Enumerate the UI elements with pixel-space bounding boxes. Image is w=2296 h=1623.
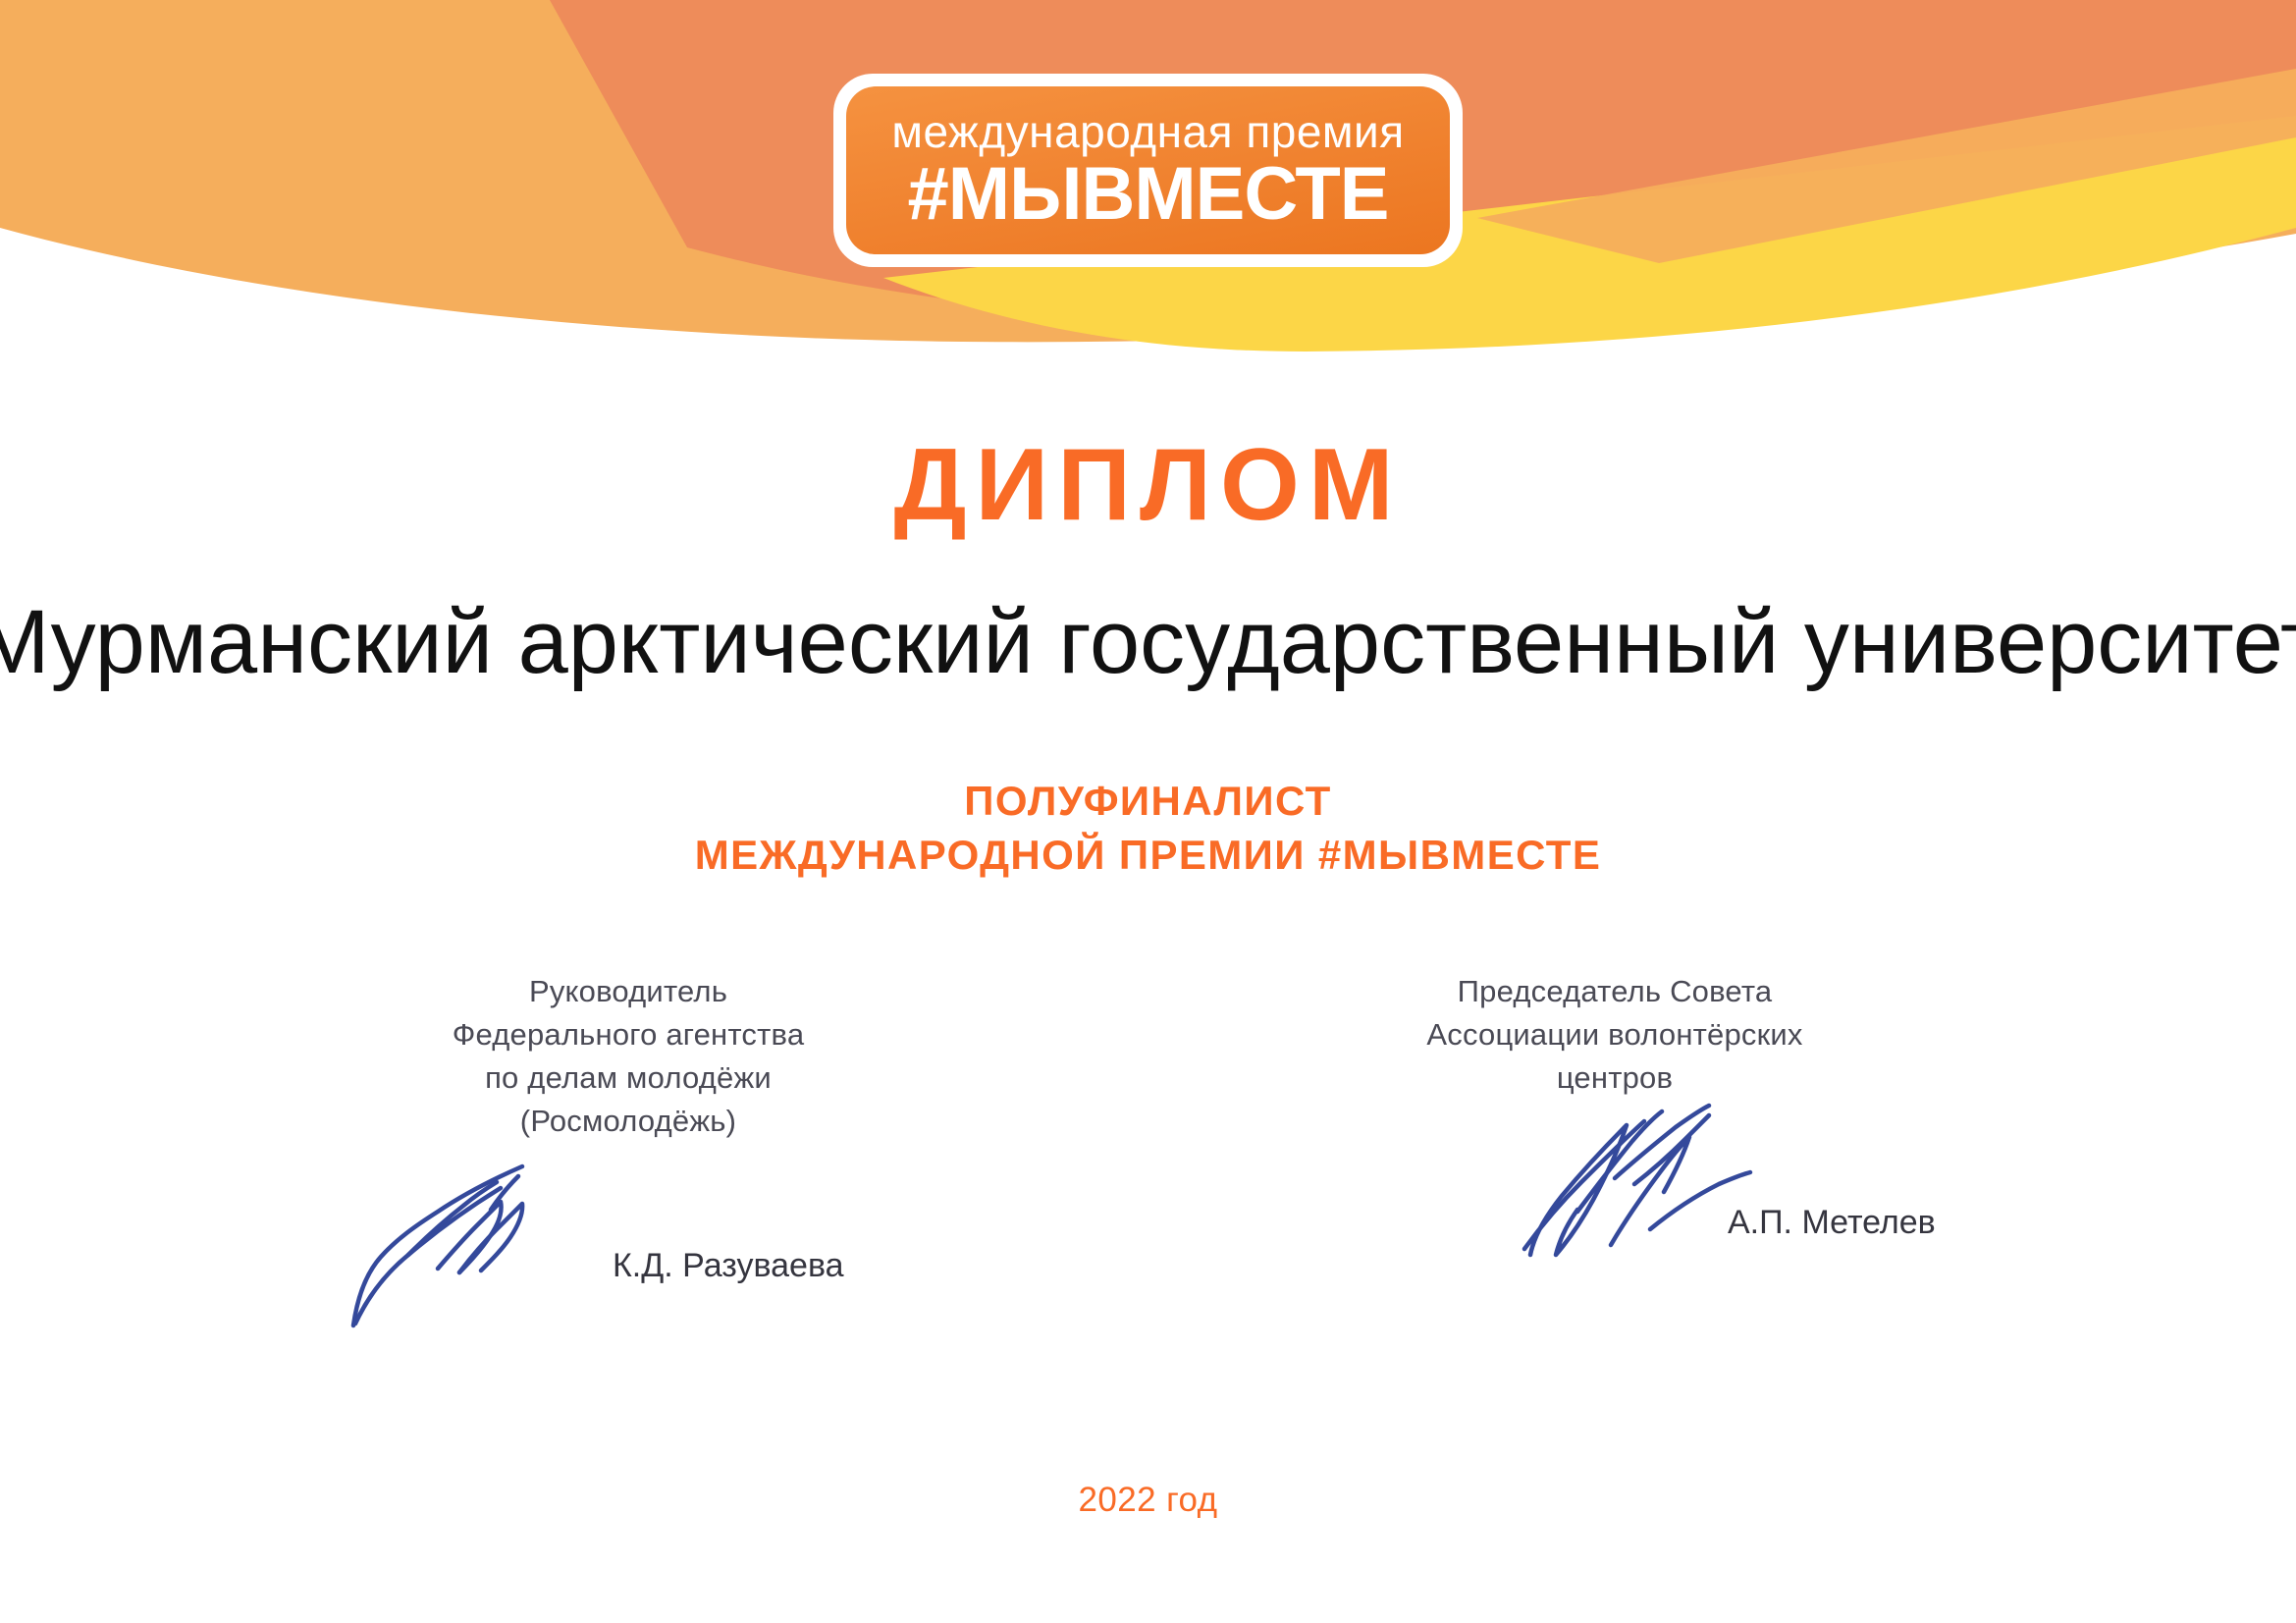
certificate-page: международная премия #МЫВМЕСТЕ ДИПЛОМ Му… <box>0 0 2296 1623</box>
recipient-name-container: Мурманский арктический государственный у… <box>0 579 2296 707</box>
signatory-role-line4: (Росмолодёжь) <box>324 1100 933 1143</box>
signatory-name: К.Д. Разуваева <box>613 1247 844 1285</box>
signatory-role-line3: по делам молодёжи <box>324 1056 933 1100</box>
signature-row: К.Д. Разуваева <box>324 1151 933 1337</box>
award-subtitle-line2: МЕЖДУНАРОДНОЙ ПРЕМИИ #МЫВМЕСТЕ <box>0 828 2296 882</box>
handwritten-signature <box>344 1151 638 1337</box>
year-label: 2022 год <box>0 1481 2296 1520</box>
signature-block-rosmolodezh: Руководитель Федерального агентства по д… <box>324 970 933 1337</box>
badge-tagline: международная премия <box>891 109 1404 154</box>
badge-hashtag: #МЫВМЕСТЕ <box>908 156 1389 233</box>
mivmeste-logo-badge: международная премия #МЫВМЕСТЕ <box>833 74 1463 267</box>
signatory-role-line3: центров <box>1310 1056 1919 1100</box>
signatory-role-line2: Федерального агентства <box>324 1013 933 1056</box>
signatory-role: Руководитель Федерального агентства по д… <box>324 970 933 1143</box>
partner-logos: росмолодёжь добро добро .ru АВЦ АССОЦИАЦ… <box>0 1314 2296 1441</box>
award-subtitle-line1: ПОЛУФИНАЛИСТ <box>0 774 2296 828</box>
award-subtitle: ПОЛУФИНАЛИСТ МЕЖДУНАРОДНОЙ ПРЕМИИ #МЫВМЕ… <box>0 774 2296 883</box>
signatory-role-line1: Руководитель <box>324 970 933 1013</box>
page-title: ДИПЛОМ <box>0 434 2296 536</box>
signatory-role-line1: Председатель Совета <box>1310 970 1919 1013</box>
signature-row: А.П. Метелев <box>1310 1108 1919 1294</box>
signature-block-avc: Председатель Совета Ассоциации волонтёрс… <box>1310 970 1919 1294</box>
signatory-role: Председатель Совета Ассоциации волонтёрс… <box>1310 970 1919 1100</box>
signatory-role-line2: Ассоциации волонтёрских <box>1310 1013 1919 1056</box>
signatory-name: А.П. Метелев <box>1728 1204 1936 1242</box>
badge-body: международная премия #МЫВМЕСТЕ <box>846 86 1450 254</box>
recipient-name: Мурманский арктический государственный у… <box>0 592 2296 693</box>
handwritten-signature <box>1517 1102 1772 1278</box>
